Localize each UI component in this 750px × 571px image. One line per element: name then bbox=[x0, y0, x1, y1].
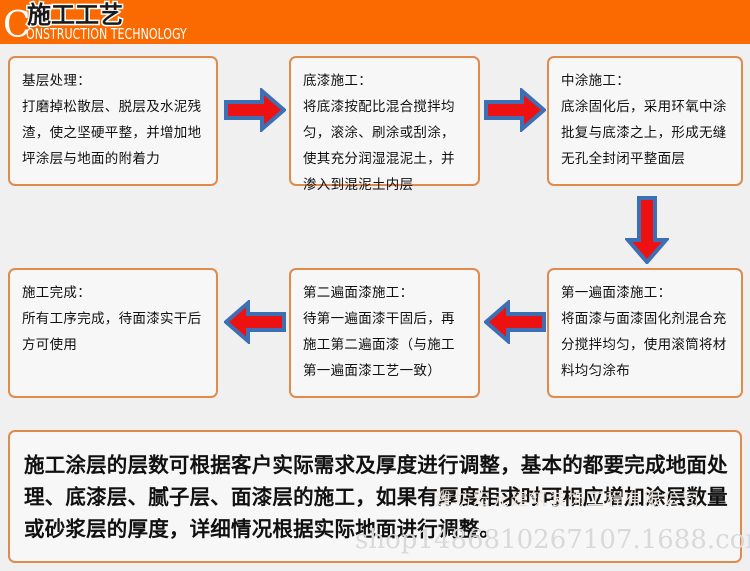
flow-step-title: 施工完成： bbox=[22, 280, 204, 306]
flow-step-base-treatment: 基层处理： 打磨掉松散层、脱层及水泥残渣，使之坚硬平整，并增加地坪涂层与地面的附… bbox=[8, 56, 218, 186]
flow-step-middle-coat-construction: 中涂施工： 底涂固化后，采用环氧中涂批复与底漆之上，形成无缝无孔全封闭平整面层 bbox=[547, 56, 743, 186]
arrow-right-icon bbox=[224, 88, 286, 132]
arrow-down-icon bbox=[625, 196, 669, 264]
flow-step-primer-construction: 底漆施工： 将底漆按配比混合搅拌均匀，滚涂、刷涂或刮涂，使其充分润湿混泥土，并渗… bbox=[289, 56, 480, 186]
logo: C 施工工艺 ONSTRUCTION TECHNOLOGY bbox=[2, 2, 202, 44]
flow-step-title: 底漆施工： bbox=[303, 68, 466, 94]
page-header: C 施工工艺 ONSTRUCTION TECHNOLOGY bbox=[0, 0, 750, 44]
flow-step-body: 所有工序完成，待面漆实干后方可使用 bbox=[22, 306, 204, 358]
arrow-left-icon bbox=[484, 300, 546, 344]
flow-step-second-topcoat-construction: 第二遍面漆施工： 待第一遍面漆干固后，再施工第二遍面漆（与施工第一遍面漆工艺一致… bbox=[289, 268, 480, 398]
flow-step-body: 打磨掉松散层、脱层及水泥残渣，使之坚硬平整，并增加地坪涂层与地面的附着力 bbox=[22, 94, 204, 172]
page-title-chinese: 施工工艺 bbox=[27, 3, 123, 27]
flow-step-body: 将面漆与面漆固化剂混合充分搅拌均匀，使用滚筒将材料均匀涂布 bbox=[561, 306, 729, 384]
summary-text: 施工涂层的层数可根据客户实际需求及厚度进行调整，基本的都要完成地面处理、底漆层、… bbox=[24, 453, 728, 541]
flow-step-body: 底涂固化后，采用环氧中涂批复与底漆之上，形成无缝无孔全封闭平整面层 bbox=[561, 94, 729, 172]
flow-step-title: 基层处理： bbox=[22, 68, 204, 94]
summary-note: 施工涂层的层数可根据客户实际需求及厚度进行调整，基本的都要完成地面处理、底漆层、… bbox=[8, 430, 742, 563]
flow-step-title: 中涂施工： bbox=[561, 68, 729, 94]
page-title-english: ONSTRUCTION TECHNOLOGY bbox=[26, 27, 187, 42]
arrow-left-icon bbox=[224, 300, 286, 344]
flow-step-body: 待第一遍面漆干固后，再施工第二遍面漆（与施工第一遍面漆工艺一致） bbox=[303, 306, 466, 384]
flow-step-title: 第二遍面漆施工： bbox=[303, 280, 466, 306]
flow-step-construction-complete: 施工完成： 所有工序完成，待面漆实干后方可使用 bbox=[8, 268, 218, 398]
flow-step-title: 第一遍面漆施工： bbox=[561, 280, 729, 306]
flow-step-body: 将底漆按配比混合搅拌均匀，滚涂、刷涂或刮涂，使其充分润湿混泥土，并渗入到混泥土内… bbox=[303, 94, 466, 198]
arrow-right-icon bbox=[484, 88, 546, 132]
flow-step-first-topcoat-construction: 第一遍面漆施工： 将面漆与面漆固化剂混合充分搅拌均匀，使用滚筒将材料均匀涂布 bbox=[547, 268, 743, 398]
